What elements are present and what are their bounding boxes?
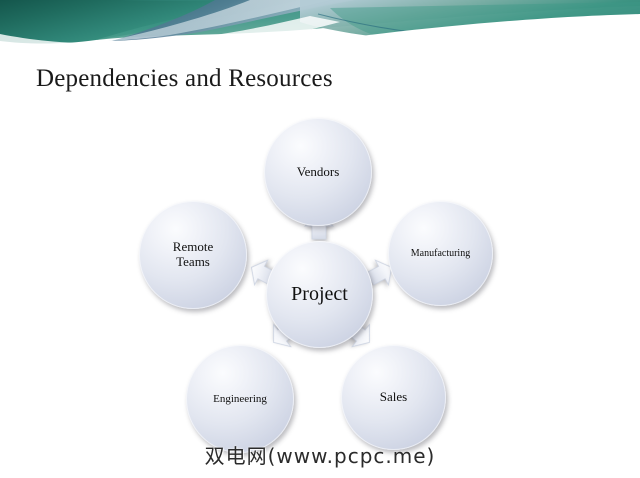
wave-banner <box>0 0 640 62</box>
diagram-node-manufacturing-label: Manufacturing <box>411 248 470 259</box>
diagram-node-engineering-label: Engineering <box>213 393 267 405</box>
slide-canvas: Dependencies and Resources <box>0 0 640 478</box>
diagram-node-sales[interactable]: Sales <box>341 345 446 450</box>
page-title: Dependencies and Resources <box>36 64 333 94</box>
watermark-text: 双电网(www.pcpc.me) <box>0 440 640 469</box>
diagram-node-engineering[interactable]: Engineering <box>186 345 294 453</box>
diagram-node-vendors[interactable]: Vendors <box>264 118 372 226</box>
radial-cycle-diagram: Vendors Manufacturing Sales Engineering … <box>0 100 640 460</box>
wave-banner-graphic <box>0 0 640 62</box>
diagram-node-sales-label: Sales <box>380 390 407 405</box>
diagram-node-manufacturing[interactable]: Manufacturing <box>388 201 493 306</box>
diagram-node-remote-teams[interactable]: Remote Teams <box>139 201 247 309</box>
diagram-node-remote-teams-label: Remote Teams <box>173 240 213 269</box>
diagram-node-project-label: Project <box>291 283 348 305</box>
diagram-node-vendors-label: Vendors <box>297 165 340 180</box>
diagram-node-project-center[interactable]: Project <box>266 241 373 348</box>
